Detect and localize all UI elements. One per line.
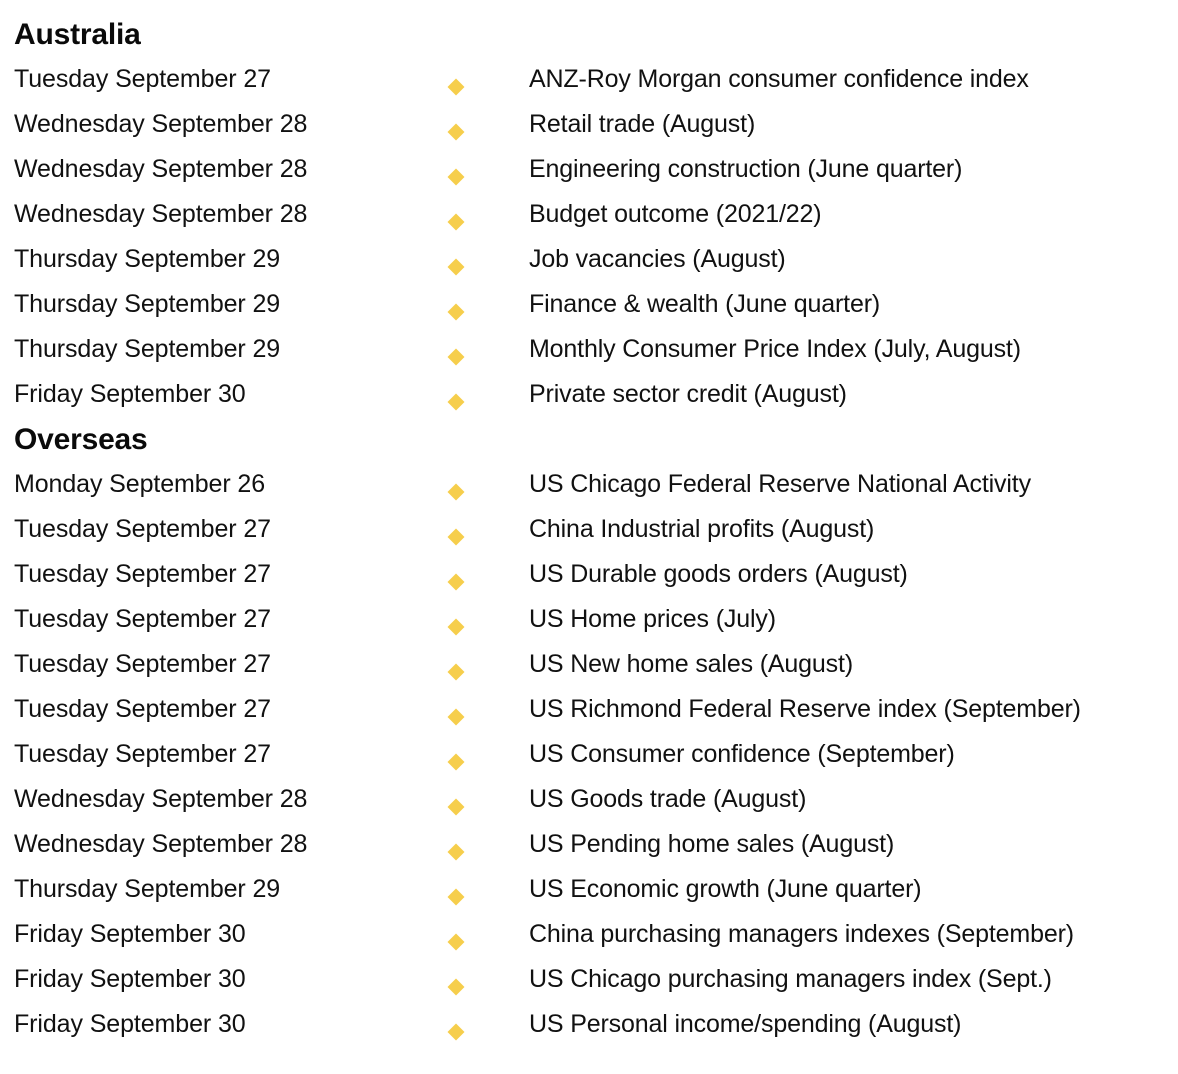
event-date: Wednesday September 28 <box>14 822 450 867</box>
event-name: US Goods trade (August) <box>529 777 1178 822</box>
event-list: Tuesday September 27ANZ-Roy Morgan consu… <box>14 57 1178 417</box>
event-name: Monthly Consumer Price Index (July, Augu… <box>529 327 1178 372</box>
event-name: ANZ-Roy Morgan consumer confidence index <box>529 57 1178 102</box>
event-row: Monday September 26US Chicago Federal Re… <box>14 462 1178 507</box>
section-heading: Australia <box>14 12 1178 57</box>
diamond-icon <box>448 799 465 816</box>
event-name: US Economic growth (June quarter) <box>529 867 1178 912</box>
diamond-icon <box>448 259 465 276</box>
event-date: Thursday September 29 <box>14 327 450 372</box>
diamond-icon <box>448 484 465 501</box>
event-row: Wednesday September 28US Pending home sa… <box>14 822 1178 867</box>
event-row: Tuesday September 27US Richmond Federal … <box>14 687 1178 732</box>
event-row: Wednesday September 28US Goods trade (Au… <box>14 777 1178 822</box>
event-row: Wednesday September 28Budget outcome (20… <box>14 192 1178 237</box>
event-name: US Richmond Federal Reserve index (Septe… <box>529 687 1178 732</box>
diamond-icon <box>448 844 465 861</box>
event-name: Finance & wealth (June quarter) <box>529 282 1178 327</box>
event-row: Tuesday September 27US Consumer confiden… <box>14 732 1178 777</box>
event-name: Job vacancies (August) <box>529 237 1178 282</box>
event-date: Wednesday September 28 <box>14 777 450 822</box>
diamond-icon <box>448 889 465 906</box>
diamond-icon <box>448 664 465 681</box>
diamond-icon <box>448 934 465 951</box>
diamond-icon <box>448 979 465 996</box>
event-date: Tuesday September 27 <box>14 642 450 687</box>
event-date: Wednesday September 28 <box>14 192 450 237</box>
diamond-icon <box>448 79 465 96</box>
event-name: US Durable goods orders (August) <box>529 552 1178 597</box>
event-row: Tuesday September 27China Industrial pro… <box>14 507 1178 552</box>
event-row: Tuesday September 27US Durable goods ord… <box>14 552 1178 597</box>
event-date: Thursday September 29 <box>14 237 450 282</box>
event-date: Tuesday September 27 <box>14 57 450 102</box>
event-date: Wednesday September 28 <box>14 147 450 192</box>
diamond-icon <box>448 169 465 186</box>
event-row: Friday September 30China purchasing mana… <box>14 912 1178 957</box>
diamond-icon <box>448 754 465 771</box>
event-name: US Pending home sales (August) <box>529 822 1178 867</box>
calendar-section: AustraliaTuesday September 27ANZ-Roy Mor… <box>14 12 1178 417</box>
calendar-section: OverseasMonday September 26US Chicago Fe… <box>14 417 1178 1047</box>
event-row: Tuesday September 27US Home prices (July… <box>14 597 1178 642</box>
event-date: Tuesday September 27 <box>14 732 450 777</box>
event-name: China purchasing managers indexes (Septe… <box>529 912 1178 957</box>
event-date: Friday September 30 <box>14 912 450 957</box>
event-date: Tuesday September 27 <box>14 507 450 552</box>
event-row: Thursday September 29Finance & wealth (J… <box>14 282 1178 327</box>
event-row: Friday September 30Private sector credit… <box>14 372 1178 417</box>
event-name: Retail trade (August) <box>529 102 1178 147</box>
event-row: Tuesday September 27ANZ-Roy Morgan consu… <box>14 57 1178 102</box>
event-list: Monday September 26US Chicago Federal Re… <box>14 462 1178 1047</box>
event-date: Tuesday September 27 <box>14 552 450 597</box>
event-date: Wednesday September 28 <box>14 102 450 147</box>
event-name: US Personal income/spending (August) <box>529 1002 1178 1047</box>
diamond-icon <box>448 619 465 636</box>
event-name: Private sector credit (August) <box>529 372 1178 417</box>
diamond-icon <box>448 304 465 321</box>
diamond-icon <box>448 709 465 726</box>
diamond-icon <box>448 574 465 591</box>
event-row: Wednesday September 28Retail trade (Augu… <box>14 102 1178 147</box>
event-name: US Consumer confidence (September) <box>529 732 1178 777</box>
event-name: US Chicago purchasing managers index (Se… <box>529 957 1178 1002</box>
event-row: Thursday September 29Job vacancies (Augu… <box>14 237 1178 282</box>
event-date: Thursday September 29 <box>14 867 450 912</box>
event-name: US New home sales (August) <box>529 642 1178 687</box>
section-heading: Overseas <box>14 417 1178 462</box>
event-name: China Industrial profits (August) <box>529 507 1178 552</box>
event-date: Tuesday September 27 <box>14 597 450 642</box>
diamond-icon <box>448 1024 465 1041</box>
event-date: Friday September 30 <box>14 957 450 1002</box>
diamond-icon <box>448 394 465 411</box>
event-name: Budget outcome (2021/22) <box>529 192 1178 237</box>
diamond-icon <box>448 214 465 231</box>
event-name: Engineering construction (June quarter) <box>529 147 1178 192</box>
event-date: Monday September 26 <box>14 462 450 507</box>
diamond-icon <box>448 529 465 546</box>
event-name: US Home prices (July) <box>529 597 1178 642</box>
event-row: Tuesday September 27US New home sales (A… <box>14 642 1178 687</box>
event-row: Friday September 30US Personal income/sp… <box>14 1002 1178 1047</box>
event-name: US Chicago Federal Reserve National Acti… <box>529 462 1178 507</box>
event-row: Thursday September 29US Economic growth … <box>14 867 1178 912</box>
diamond-icon <box>448 124 465 141</box>
event-date: Friday September 30 <box>14 1002 450 1047</box>
event-row: Friday September 30US Chicago purchasing… <box>14 957 1178 1002</box>
event-date: Friday September 30 <box>14 372 450 417</box>
economic-calendar: AustraliaTuesday September 27ANZ-Roy Mor… <box>0 0 1178 1047</box>
event-date: Thursday September 29 <box>14 282 450 327</box>
event-row: Wednesday September 28Engineering constr… <box>14 147 1178 192</box>
event-row: Thursday September 29Monthly Consumer Pr… <box>14 327 1178 372</box>
diamond-icon <box>448 349 465 366</box>
event-date: Tuesday September 27 <box>14 687 450 732</box>
